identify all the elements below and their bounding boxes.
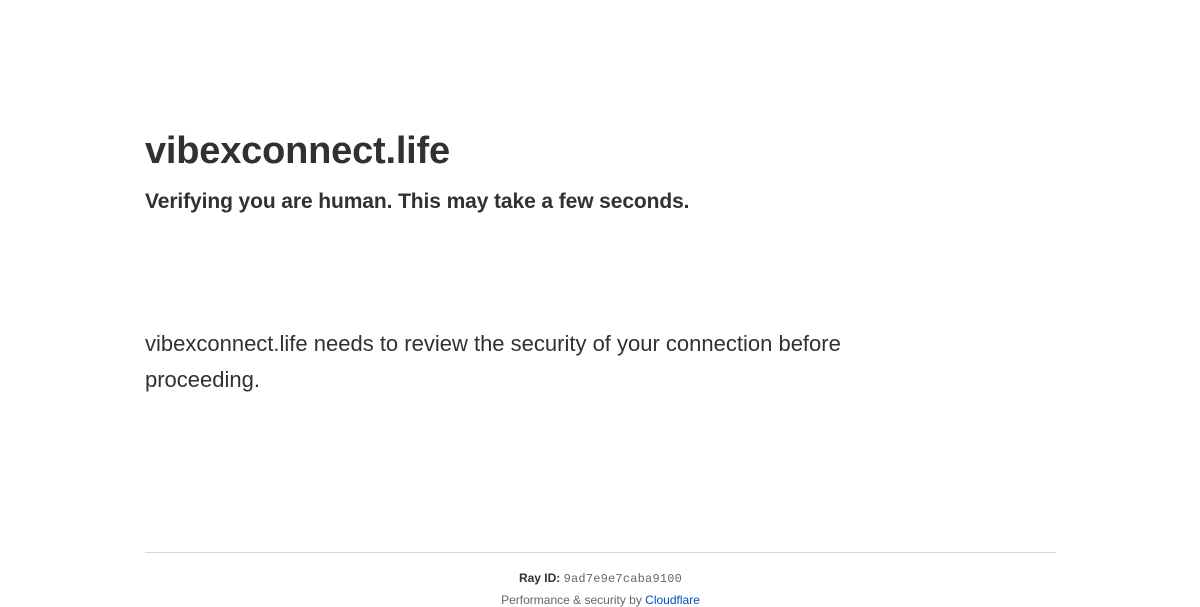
ray-id-value: 9ad7e9e7caba9100 xyxy=(564,572,682,586)
page-footer: Ray ID: 9ad7e9e7caba9100 Performance & s… xyxy=(145,552,1056,607)
challenge-widget-placeholder[interactable] xyxy=(145,238,445,303)
cloudflare-link[interactable]: Cloudflare xyxy=(645,593,700,607)
verification-status-text: Verifying you are human. This may take a… xyxy=(145,174,1056,216)
page-title: vibexconnect.life xyxy=(145,128,1056,174)
challenge-page: vibexconnect.life Verifying you are huma… xyxy=(0,0,1200,600)
challenge-description-text: vibexconnect.life needs to review the se… xyxy=(145,312,945,398)
turnstile-challenge-widget[interactable] xyxy=(145,238,445,312)
attribution-row: Performance & security by Cloudflare xyxy=(145,586,1056,607)
ray-id-row: Ray ID: 9ad7e9e7caba9100 xyxy=(145,553,1056,586)
main-content: vibexconnect.life Verifying you are huma… xyxy=(145,128,1056,398)
content-column: vibexconnect.life Verifying you are huma… xyxy=(145,0,1056,600)
ray-id-label: Ray ID: xyxy=(519,571,560,585)
attribution-prefix: Performance & security by xyxy=(501,593,645,607)
